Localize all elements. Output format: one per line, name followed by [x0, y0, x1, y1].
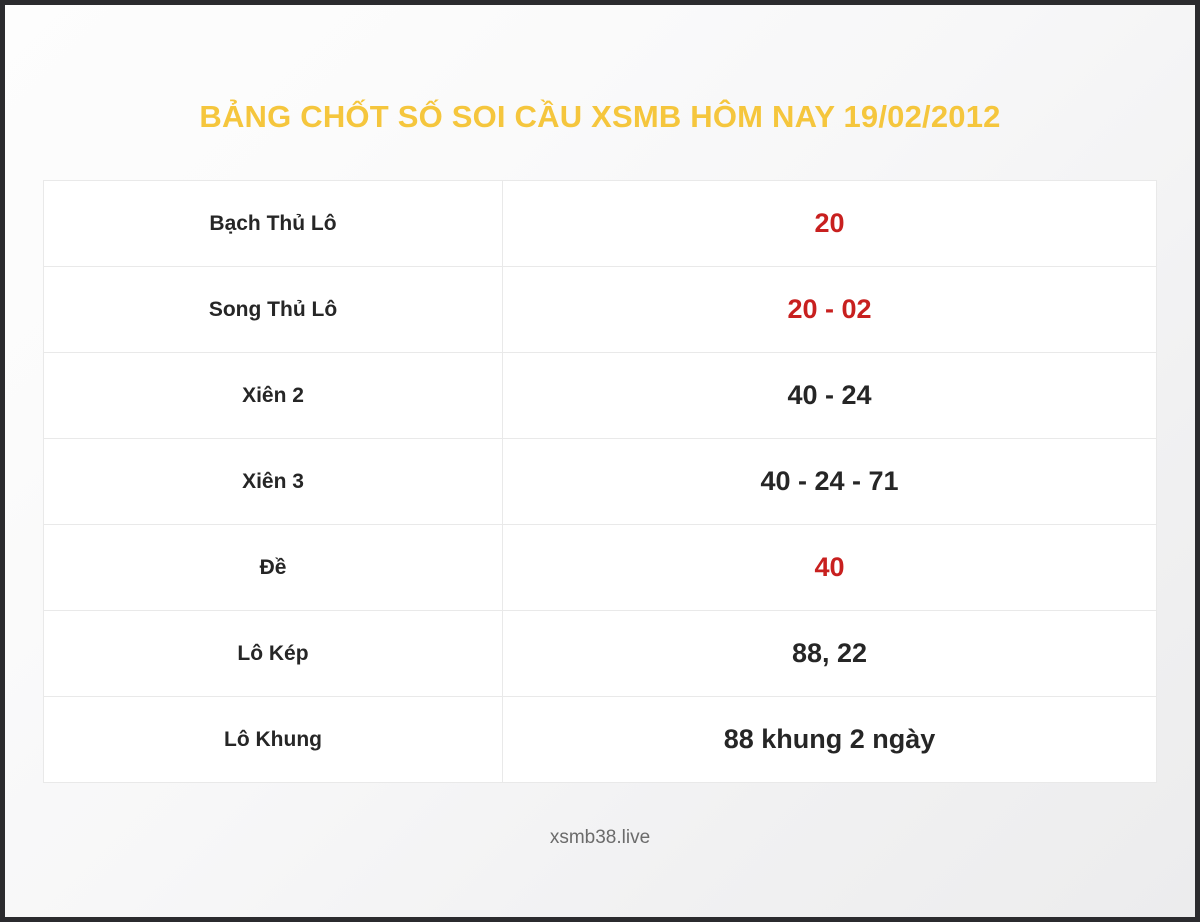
table-row: Xiên 240 - 24: [44, 353, 1157, 439]
row-label: Đề: [44, 525, 503, 611]
row-label: Xiên 2: [44, 353, 503, 439]
row-label: Xiên 3: [44, 439, 503, 525]
table-row: Song Thủ Lô20 - 02: [44, 267, 1157, 353]
row-value: 40 - 24: [503, 353, 1157, 439]
row-label: Song Thủ Lô: [44, 267, 503, 353]
table-row: Đề40: [44, 525, 1157, 611]
row-value: 88 khung 2 ngày: [503, 697, 1157, 783]
row-value: 40 - 24 - 71: [503, 439, 1157, 525]
table-body: Bạch Thủ Lô20Song Thủ Lô20 - 02Xiên 240 …: [44, 181, 1157, 783]
row-value: 20 - 02: [503, 267, 1157, 353]
row-label: Lô Khung: [44, 697, 503, 783]
row-value: 40: [503, 525, 1157, 611]
table-row: Xiên 340 - 24 - 71: [44, 439, 1157, 525]
lottery-prediction-table: Bạch Thủ Lô20Song Thủ Lô20 - 02Xiên 240 …: [43, 180, 1157, 783]
row-value: 20: [503, 181, 1157, 267]
row-value: 88, 22: [503, 611, 1157, 697]
site-credit: xsmb38.live: [5, 827, 1195, 849]
table-row: Lô Khung88 khung 2 ngày: [44, 697, 1157, 783]
table-row: Bạch Thủ Lô20: [44, 181, 1157, 267]
row-label: Lô Kép: [44, 611, 503, 697]
row-label: Bạch Thủ Lô: [44, 181, 503, 267]
page-frame: BẢNG CHỐT SỐ SOI CẦU XSMB HÔM NAY 19/02/…: [5, 5, 1195, 917]
page-title: BẢNG CHỐT SỐ SOI CẦU XSMB HÔM NAY 19/02/…: [5, 99, 1195, 135]
table-row: Lô Kép88, 22: [44, 611, 1157, 697]
